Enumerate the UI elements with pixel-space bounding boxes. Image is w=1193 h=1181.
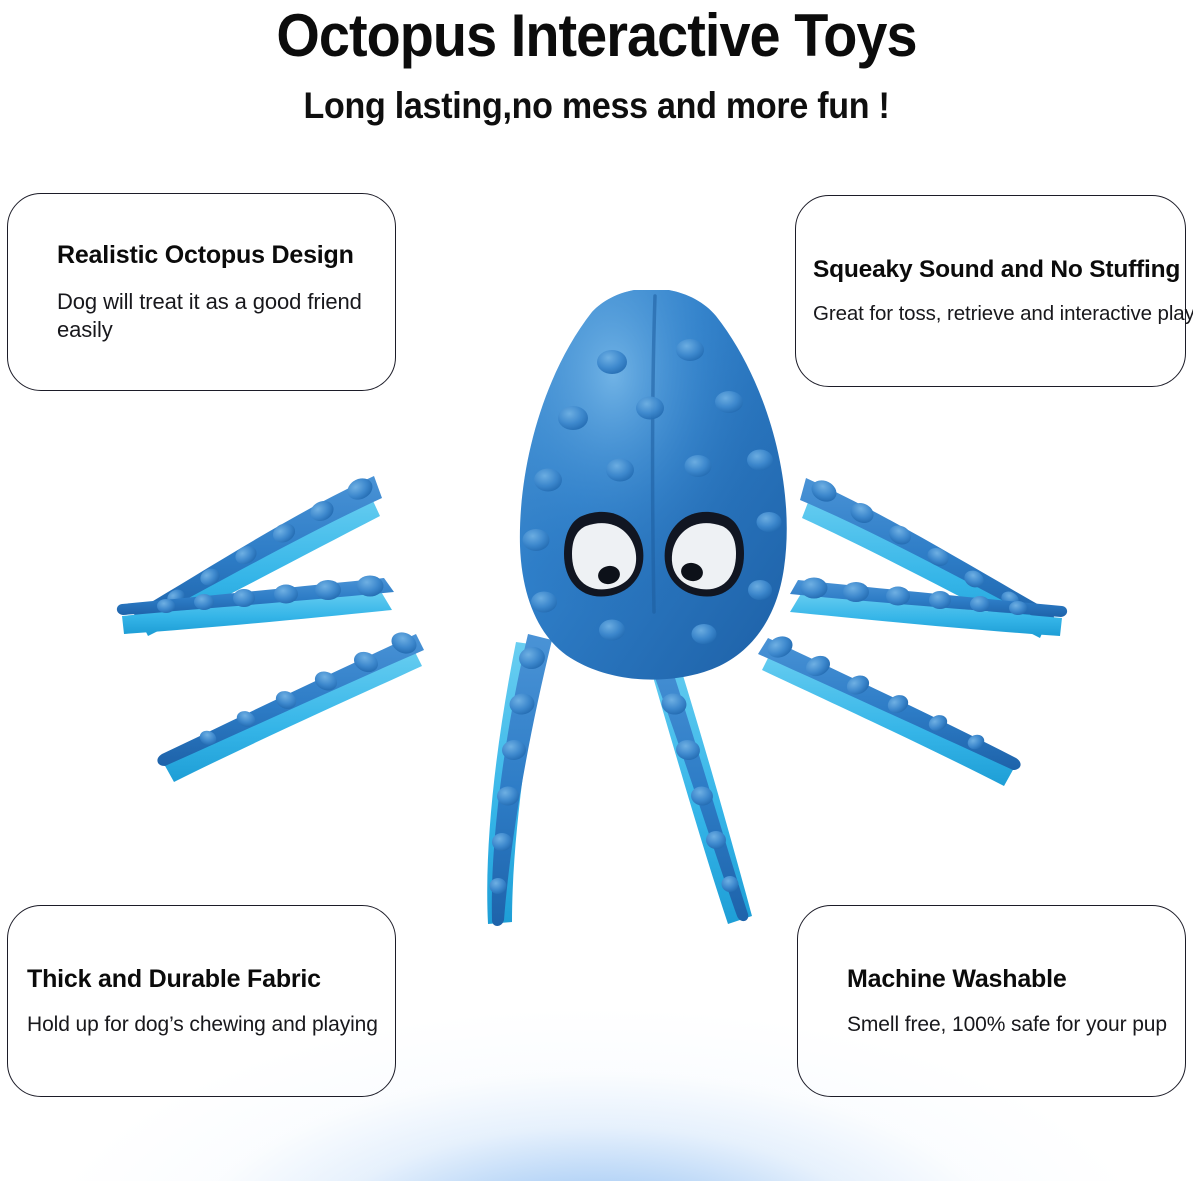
octopus-right-eye: [665, 512, 744, 597]
octopus-head: [520, 290, 787, 680]
feature-box-squeaky-sound-no-stuffing: Squeaky Sound and No Stuffing Great for …: [795, 195, 1186, 387]
header: Octopus Interactive Toys Long lasting,no…: [0, 0, 1193, 127]
octopus-left-eye: [564, 512, 643, 597]
product-infographic: Octopus Interactive Toys Long lasting,no…: [0, 0, 1193, 1181]
page-title: Octopus Interactive Toys: [42, 0, 1151, 69]
feature-title: Machine Washable: [847, 964, 1185, 994]
feature-title: Thick and Durable Fabric: [27, 964, 395, 994]
feature-box-realistic-octopus-design: Realistic Octopus Design Dog will treat …: [7, 193, 396, 391]
feature-description: Hold up for dog’s chewing and playing: [27, 1012, 395, 1039]
feature-description: Great for toss, retrieve and interactive…: [813, 301, 1185, 327]
feature-box-thick-durable-fabric: Thick and Durable Fabric Hold up for dog…: [7, 905, 396, 1097]
page-subtitle: Long lasting,no mess and more fun !: [48, 69, 1146, 127]
feature-description: Smell free, 100% safe for your pup: [847, 1012, 1185, 1039]
feature-description: Dog will treat it as a good friend easil…: [57, 288, 395, 344]
feature-title: Squeaky Sound and No Stuffing: [813, 255, 1185, 284]
feature-title: Realistic Octopus Design: [57, 240, 395, 270]
feature-box-machine-washable: Machine Washable Smell free, 100% safe f…: [797, 905, 1186, 1097]
